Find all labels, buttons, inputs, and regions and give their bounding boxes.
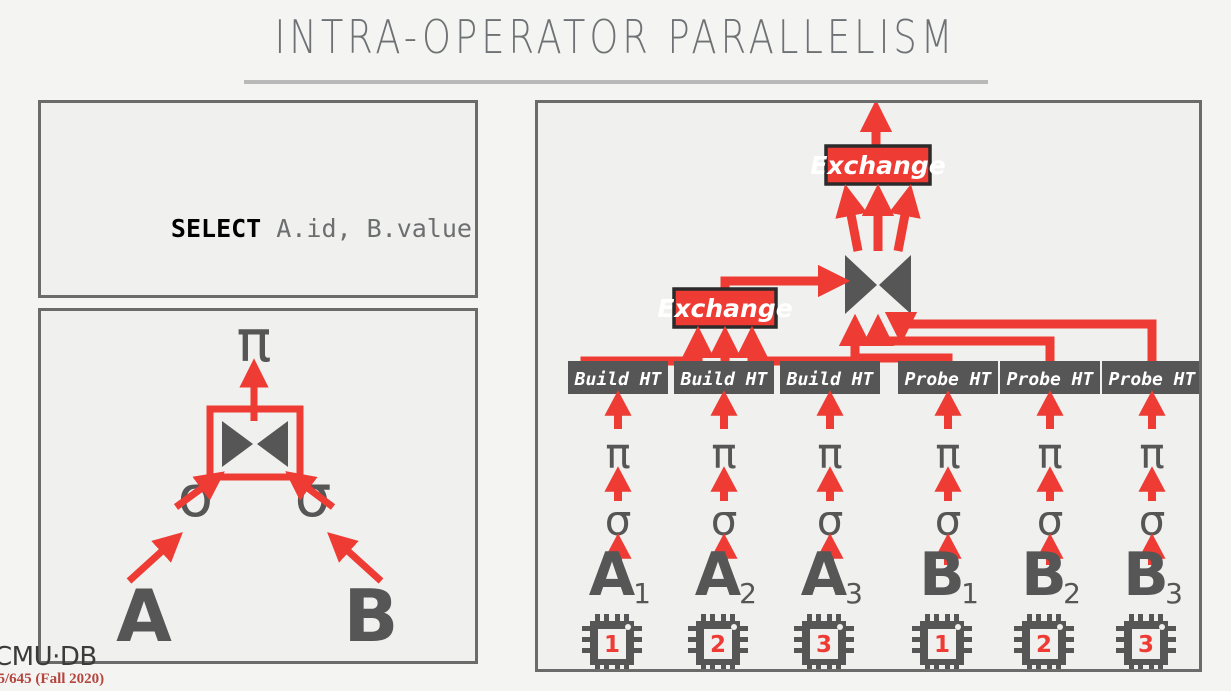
table-subscript-2: 2 — [739, 577, 757, 610]
cmudb-logo: CMU·DB — [0, 644, 218, 670]
exchange-top-node[interactable]: Exchange — [810, 146, 945, 184]
projection-symbol-3: π — [817, 429, 842, 478]
operator-label-3: Build HT — [786, 369, 875, 390]
cpu-number-5: 2 — [1036, 632, 1052, 658]
projection-symbol-6: π — [1139, 429, 1164, 478]
plan-table-right: B — [344, 574, 399, 658]
page-title: INTRA-OPERATOR PARALLELISM — [123, 10, 1108, 64]
exchange-top-label: Exchange — [810, 151, 945, 180]
table-label-6: B — [1123, 540, 1169, 610]
cpu-icon-2: 2 — [688, 614, 748, 669]
cpu-number-6: 3 — [1138, 632, 1154, 658]
sql-query-panel: SELECT A.id, B.value FROM A JOIN B ON A.… — [38, 100, 478, 298]
projection-symbol-2: π — [711, 429, 736, 478]
pipeline-column-5: Probe HT π σ B 2 2 — [1000, 361, 1100, 669]
exchange-build-label: Exchange — [657, 294, 792, 323]
sql-keyword: SELECT — [169, 212, 261, 245]
slide-canvas: INTRA-OPERATOR PARALLELISM SELECT A.id, … — [0, 0, 1231, 691]
table-subscript-3: 3 — [845, 577, 863, 610]
parallel-join-symbol — [845, 255, 911, 314]
cpu-number-3: 3 — [816, 632, 832, 658]
operator-box-4[interactable]: Probe HT — [898, 361, 998, 394]
parallel-plan-panel: Exchange Exchange — [535, 100, 1202, 672]
operator-box-3[interactable]: Build HT — [780, 361, 880, 394]
cpu-icon-5: 2 — [1014, 614, 1074, 669]
title-divider — [244, 80, 988, 84]
select-symbol-2: σ — [711, 496, 738, 545]
operator-label-1: Build HT — [574, 369, 663, 390]
pipeline-column-1: Build HT π σ A 1 1 — [568, 361, 668, 669]
cpu-icon-4: 1 — [912, 614, 972, 669]
query-plan-panel: π ⋈ σ σ A B — [38, 308, 478, 664]
query-plan-diagram: π ⋈ σ σ A B — [41, 311, 475, 661]
cmudb-logo-text: CMU·DB — [0, 642, 97, 672]
cpu-number-1: 1 — [604, 632, 620, 658]
pipeline-column-3: Build HT π σ A 3 3 — [780, 361, 880, 669]
projection-symbol-4: π — [935, 429, 960, 478]
cpu-icon-3: 3 — [794, 614, 854, 669]
operator-label-2: Build HT — [680, 369, 769, 390]
pipeline-column-6: Probe HT π σ B 3 3 — [1102, 361, 1199, 669]
operator-box-2[interactable]: Build HT — [674, 361, 774, 394]
select-symbol-1: σ — [605, 496, 632, 545]
cpu-icon-1: 1 — [582, 614, 642, 669]
cpu-icon-6: 3 — [1116, 614, 1176, 669]
plan-join-symbol — [222, 421, 288, 467]
select-symbol-5: σ — [1037, 496, 1064, 545]
operator-box-5[interactable]: Probe HT — [1000, 361, 1100, 394]
exchange-build-node[interactable]: Exchange — [657, 289, 792, 327]
table-label-3: A — [801, 540, 848, 610]
cpu-number-2: 2 — [710, 632, 726, 658]
select-symbol-3: σ — [817, 496, 844, 545]
course-label: 45/645 (Fall 2020) — [0, 671, 218, 688]
plan-projection-symbol: π — [237, 311, 272, 375]
footer: CMU·DB 45/645 (Fall 2020) — [0, 644, 218, 688]
table-subscript-4: 1 — [961, 577, 979, 610]
table-label-1: A — [589, 540, 636, 610]
operator-label-6: Probe HT — [1109, 369, 1197, 390]
pipeline-column-4: Probe HT π σ B 1 1 — [898, 361, 998, 669]
pipeline-column-2: Build HT π σ A 2 2 — [674, 361, 774, 669]
table-label-5: B — [1021, 540, 1067, 610]
operator-label-4: Probe HT — [905, 369, 993, 390]
select-symbol-6: σ — [1139, 496, 1166, 545]
table-subscript-6: 3 — [1165, 577, 1183, 610]
arrow-join-to-exchange-1 — [848, 199, 858, 251]
operator-box-6[interactable]: Probe HT — [1102, 361, 1199, 394]
cpu-number-4: 1 — [934, 632, 950, 658]
operator-box-1[interactable]: Build HT — [568, 361, 668, 394]
sql-line: SELECT A.id, B.value — [49, 179, 472, 278]
arrow-join-to-exchange-3 — [898, 199, 908, 251]
parallel-plan-diagram: Exchange Exchange — [538, 103, 1199, 669]
table-subscript-5: 2 — [1063, 577, 1081, 610]
table-label-4: B — [919, 540, 965, 610]
table-label-2: A — [695, 540, 742, 610]
sql-text: A.id, B.value — [261, 214, 472, 243]
table-subscript-1: 1 — [633, 577, 651, 610]
projection-symbol-5: π — [1037, 429, 1062, 478]
operator-label-5: Probe HT — [1007, 369, 1095, 390]
projection-symbol-1: π — [605, 429, 630, 478]
select-symbol-4: σ — [935, 496, 962, 545]
